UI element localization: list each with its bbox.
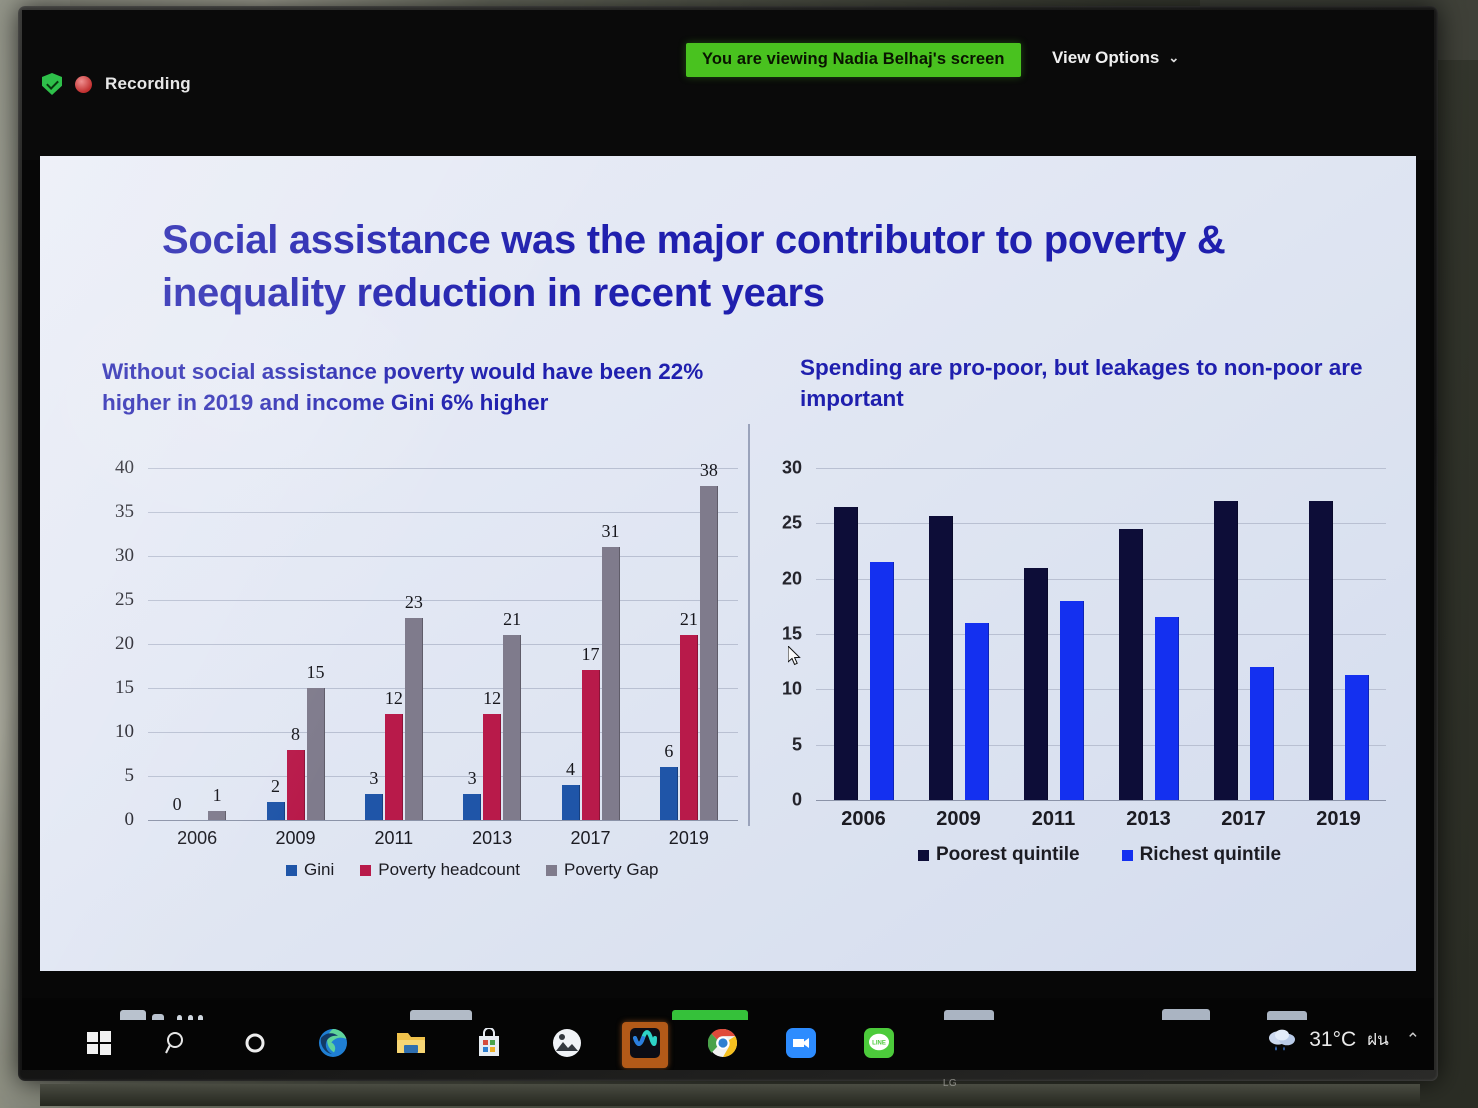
bar-value-label: 23 bbox=[405, 592, 423, 613]
subhead-left: Without social assistance poverty would … bbox=[102, 356, 752, 418]
y-axis-tick-label: 15 bbox=[115, 677, 134, 699]
bar-value-label: 3 bbox=[369, 768, 378, 789]
y-axis-tick-label: 5 bbox=[792, 734, 802, 755]
x-axis-tick-label: 2011 bbox=[1032, 808, 1075, 831]
bar-poverty-headcount-2013 bbox=[483, 714, 501, 820]
x-axis-left: 200620092011201320172019 bbox=[148, 828, 738, 852]
microsoft-store-icon bbox=[475, 1028, 503, 1063]
taskbar-search[interactable] bbox=[154, 1022, 200, 1068]
task-view-icon bbox=[242, 1030, 268, 1061]
gridline bbox=[148, 644, 738, 645]
y-axis-tick-label: 0 bbox=[792, 790, 802, 811]
gridline bbox=[148, 468, 738, 469]
chart-quintile-spending: 051015202530 200620092011201320172019 Po… bbox=[758, 456, 1398, 876]
y-axis-tick-label: 10 bbox=[782, 679, 802, 700]
legend-swatch-icon bbox=[546, 865, 557, 876]
taskbar-photos[interactable] bbox=[544, 1022, 590, 1068]
legend-label: Gini bbox=[304, 860, 334, 880]
bar-richest-quintile-2006 bbox=[870, 562, 894, 800]
bar-poverty-gap-2011 bbox=[405, 618, 423, 820]
bar-poverty-headcount-2019 bbox=[680, 635, 698, 820]
bar-value-label: 12 bbox=[385, 688, 403, 709]
taskbar-microsoft-store[interactable] bbox=[466, 1022, 512, 1068]
y-axis-tick-label: 0 bbox=[125, 809, 135, 831]
chevron-down-icon: ⌄ bbox=[1168, 50, 1179, 66]
windows-taskbar: LINE 31°C ฝน ⌃ bbox=[22, 998, 1434, 1070]
legend-swatch-icon bbox=[360, 865, 371, 876]
bar-gini-2009 bbox=[267, 802, 285, 820]
taskbar-file-explorer[interactable] bbox=[388, 1022, 434, 1068]
x-axis-tick-label: 2019 bbox=[669, 828, 709, 849]
window-thumbnail[interactable] bbox=[1267, 1011, 1307, 1020]
bar-poverty-headcount-2011 bbox=[385, 714, 403, 820]
y-axis-tick-label: 25 bbox=[782, 513, 802, 534]
tv-brand-label: LG bbox=[920, 1078, 980, 1092]
line-icon: LINE bbox=[864, 1028, 894, 1063]
y-axis-tick-label: 15 bbox=[782, 624, 802, 645]
y-axis-tick-label: 40 bbox=[115, 457, 134, 479]
x-axis-tick-label: 2011 bbox=[374, 828, 413, 849]
tv-screen: Recording You are viewing Nadia Belhaj's… bbox=[22, 10, 1434, 1070]
bar-poverty-gap-2019 bbox=[700, 486, 718, 820]
x-axis-tick-label: 2017 bbox=[570, 828, 610, 849]
y-axis-tick-label: 30 bbox=[115, 545, 134, 567]
axis-baseline bbox=[816, 800, 1386, 801]
gridline bbox=[816, 634, 1386, 635]
rain-cloud-icon bbox=[1266, 1027, 1298, 1053]
x-axis-tick-label: 2013 bbox=[472, 828, 512, 849]
bar-value-label: 8 bbox=[291, 724, 300, 745]
gridline bbox=[148, 512, 738, 513]
vertical-divider bbox=[748, 424, 750, 826]
bar-value-label: 0 bbox=[173, 794, 182, 815]
bar-value-label: 21 bbox=[680, 609, 698, 630]
bar-gini-2019 bbox=[660, 767, 678, 820]
legend-item[interactable]: Richest quintile bbox=[1122, 844, 1281, 866]
gridline bbox=[816, 745, 1386, 746]
view-options-button[interactable]: View Options ⌄ bbox=[1052, 48, 1179, 68]
gridline bbox=[148, 776, 738, 777]
taskbar-zoom[interactable] bbox=[778, 1022, 824, 1068]
bar-poorest-quintile-2011 bbox=[1024, 568, 1048, 800]
tray-condition: ฝน bbox=[1367, 1026, 1389, 1053]
taskbar-task-view[interactable] bbox=[232, 1022, 278, 1068]
gridline bbox=[148, 688, 738, 689]
gridline bbox=[816, 468, 1386, 469]
gridline bbox=[148, 556, 738, 557]
bar-value-label: 12 bbox=[483, 688, 501, 709]
window-thumbnail[interactable] bbox=[672, 1010, 748, 1020]
x-axis-tick-label: 2006 bbox=[177, 828, 217, 849]
mouse-cursor-icon bbox=[788, 646, 802, 666]
bar-value-label: 17 bbox=[582, 644, 600, 665]
legend-right: Poorest quintileRichest quintile bbox=[918, 844, 1281, 866]
taskbar-icon-row: LINE bbox=[76, 1020, 902, 1070]
record-dot-icon[interactable] bbox=[75, 76, 92, 93]
y-axis-tick-label: 5 bbox=[125, 765, 135, 787]
x-axis-tick-label: 2019 bbox=[1316, 808, 1361, 831]
bar-richest-quintile-2011 bbox=[1060, 601, 1084, 800]
bar-poorest-quintile-2017 bbox=[1214, 501, 1238, 800]
y-axis-tick-label: 25 bbox=[115, 589, 134, 611]
x-axis-tick-label: 2009 bbox=[936, 808, 981, 831]
bar-value-label: 31 bbox=[602, 521, 620, 542]
webex-icon bbox=[630, 1028, 660, 1063]
bar-gini-2011 bbox=[365, 794, 383, 820]
legend-item[interactable]: Gini bbox=[286, 860, 334, 880]
x-axis-tick-label: 2013 bbox=[1126, 808, 1171, 831]
legend-label: Poverty headcount bbox=[378, 860, 520, 880]
chart-poverty-reduction: 0510152025303540012815312233122141731621… bbox=[86, 456, 746, 876]
taskbar-line[interactable]: LINE bbox=[856, 1022, 902, 1068]
bar-poorest-quintile-2019 bbox=[1309, 501, 1333, 800]
bar-value-label: 15 bbox=[307, 662, 325, 683]
legend-swatch-icon bbox=[1122, 850, 1133, 861]
y-axis-tick-label: 35 bbox=[115, 501, 134, 523]
y-axis-tick-label: 20 bbox=[782, 568, 802, 589]
bar-richest-quintile-2017 bbox=[1250, 667, 1274, 800]
gridline bbox=[816, 523, 1386, 524]
window-thumbnail[interactable] bbox=[410, 1010, 472, 1020]
legend-label: Poorest quintile bbox=[936, 844, 1080, 866]
svg-text:LINE: LINE bbox=[872, 1040, 886, 1046]
bar-value-label: 3 bbox=[468, 768, 477, 789]
legend-swatch-icon bbox=[918, 850, 929, 861]
x-axis-tick-label: 2006 bbox=[841, 808, 886, 831]
axis-baseline bbox=[148, 820, 738, 821]
tv-stand bbox=[40, 1084, 1420, 1106]
gridline bbox=[148, 732, 738, 733]
search-icon bbox=[164, 1030, 190, 1061]
bar-poverty-gap-2006 bbox=[208, 811, 226, 820]
bar-poverty-headcount-2009 bbox=[287, 750, 305, 820]
plot-area-right: 051015202530 bbox=[816, 468, 1386, 800]
bar-gini-2017 bbox=[562, 785, 580, 820]
webex-share-header: Recording You are viewing Nadia Belhaj's… bbox=[22, 10, 1434, 160]
photos-icon bbox=[552, 1028, 582, 1063]
file-explorer-icon bbox=[395, 1029, 427, 1062]
legend-item[interactable]: Poverty headcount bbox=[360, 860, 520, 880]
recording-label: Recording bbox=[105, 74, 191, 94]
bar-value-label: 38 bbox=[700, 460, 718, 481]
security-shield-icon bbox=[42, 73, 62, 95]
zoom-icon bbox=[786, 1028, 816, 1063]
x-axis-tick-label: 2017 bbox=[1221, 808, 1266, 831]
x-axis-right: 200620092011201320172019 bbox=[816, 808, 1386, 832]
legend-left: GiniPoverty headcountPoverty Gap bbox=[286, 860, 659, 880]
subhead-right: Spending are pro-poor, but leakages to n… bbox=[800, 352, 1400, 414]
room-photo: LG Recording You are viewing Nadia Belha… bbox=[0, 0, 1478, 1108]
taskbar-edge-browser[interactable] bbox=[310, 1022, 356, 1068]
y-axis-tick-label: 10 bbox=[115, 721, 134, 743]
taskbar-webex[interactable] bbox=[622, 1022, 668, 1068]
window-thumbnail[interactable] bbox=[120, 1010, 146, 1020]
bar-value-label: 2 bbox=[271, 776, 280, 797]
bar-poverty-gap-2013 bbox=[503, 635, 521, 820]
taskbar-windows-start[interactable] bbox=[76, 1022, 122, 1068]
window-thumbnail-strip bbox=[22, 998, 1434, 1020]
y-axis-tick-label: 20 bbox=[115, 633, 134, 655]
bar-poorest-quintile-2009 bbox=[929, 516, 953, 800]
bar-poverty-headcount-2017 bbox=[582, 670, 600, 820]
view-options-label: View Options bbox=[1052, 48, 1159, 68]
edge-browser-icon bbox=[317, 1027, 349, 1064]
bar-poorest-quintile-2006 bbox=[834, 507, 858, 800]
bar-value-label: 1 bbox=[213, 785, 222, 806]
legend-item[interactable]: Poverty Gap bbox=[546, 860, 659, 880]
tray-temperature: 31°C bbox=[1309, 1028, 1356, 1052]
taskbar-chrome[interactable] bbox=[700, 1022, 746, 1068]
chrome-icon bbox=[708, 1028, 738, 1063]
system-tray[interactable]: 31°C ฝน ⌃ bbox=[1266, 1026, 1420, 1053]
legend-label: Poverty Gap bbox=[564, 860, 659, 880]
slide-title: Social assistance was the major contribu… bbox=[162, 214, 1342, 320]
tray-chevron-up-icon[interactable]: ⌃ bbox=[1406, 1030, 1420, 1050]
bar-richest-quintile-2009 bbox=[965, 623, 989, 800]
bar-poorest-quintile-2013 bbox=[1119, 529, 1143, 800]
bar-poverty-gap-2017 bbox=[602, 547, 620, 820]
gridline bbox=[816, 689, 1386, 690]
legend-swatch-icon bbox=[286, 865, 297, 876]
bar-value-label: 21 bbox=[503, 609, 521, 630]
viewing-screen-banner: You are viewing Nadia Belhaj's screen bbox=[686, 43, 1021, 77]
gridline bbox=[816, 579, 1386, 580]
legend-item[interactable]: Poorest quintile bbox=[918, 844, 1080, 866]
windows-start-icon bbox=[86, 1030, 112, 1061]
bar-value-label: 6 bbox=[664, 741, 673, 762]
window-thumbnail[interactable] bbox=[944, 1010, 994, 1020]
plot-area-left: 0510152025303540012815312233122141731621… bbox=[148, 468, 738, 820]
recording-indicator-group: Recording bbox=[42, 73, 191, 95]
shared-slide: Social assistance was the major contribu… bbox=[40, 156, 1416, 971]
legend-label: Richest quintile bbox=[1140, 844, 1281, 866]
bar-richest-quintile-2019 bbox=[1345, 675, 1369, 800]
x-axis-tick-label: 2009 bbox=[275, 828, 315, 849]
gridline bbox=[148, 600, 738, 601]
bar-gini-2013 bbox=[463, 794, 481, 820]
y-axis-tick-label: 30 bbox=[782, 458, 802, 479]
bar-poverty-gap-2009 bbox=[307, 688, 325, 820]
bar-richest-quintile-2013 bbox=[1155, 617, 1179, 800]
window-thumbnail[interactable] bbox=[1162, 1009, 1210, 1020]
bar-value-label: 4 bbox=[566, 759, 575, 780]
